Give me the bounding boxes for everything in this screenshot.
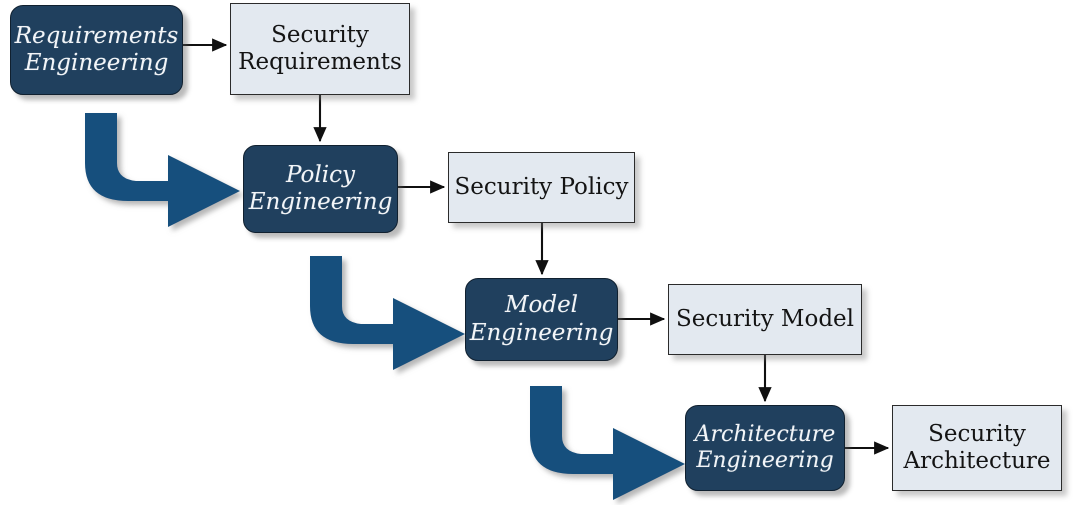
node-label: Security Model <box>669 306 861 333</box>
node-security-requirements[interactable]: SecurityRequirements <box>230 3 410 95</box>
node-requirements-engineering[interactable]: RequirementsEngineering <box>10 5 183 95</box>
node-label: Security Policy <box>449 174 634 201</box>
node-label: ArchitectureEngineering <box>686 422 844 474</box>
node-label: SecurityArchitecture <box>893 421 1061 475</box>
node-architecture-engineering[interactable]: ArchitectureEngineering <box>685 405 845 491</box>
node-label: ModelEngineering <box>466 292 618 346</box>
node-security-policy[interactable]: Security Policy <box>448 152 635 223</box>
flow-arrow-3-icon <box>530 386 685 500</box>
flow-arrow-2-icon <box>310 256 465 370</box>
node-policy-engineering[interactable]: PolicyEngineering <box>243 145 398 233</box>
security-engineering-diagram: RequirementsEngineering SecurityRequirem… <box>0 0 1075 505</box>
node-label: PolicyEngineering <box>244 162 397 216</box>
node-security-architecture[interactable]: SecurityArchitecture <box>892 405 1062 491</box>
node-model-engineering[interactable]: ModelEngineering <box>465 278 618 361</box>
node-security-model[interactable]: Security Model <box>668 284 862 355</box>
node-label: RequirementsEngineering <box>11 23 183 77</box>
node-label: SecurityRequirements <box>231 22 409 76</box>
flow-arrow-1-icon <box>85 113 240 227</box>
